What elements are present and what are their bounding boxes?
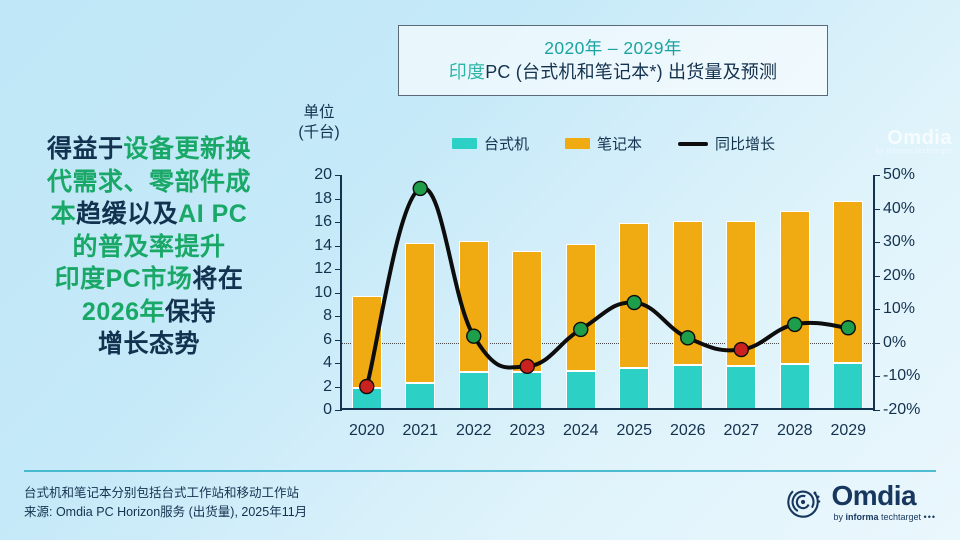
omdia-watermark: Omdia by informa techtarget <box>876 128 952 155</box>
y-axis-tick-label: 18 <box>314 190 332 208</box>
y-axis-tick-label: 20 <box>314 166 332 184</box>
y2-axis-tick-label: -20% <box>883 401 920 419</box>
growth-marker-positive[interactable] <box>681 331 695 345</box>
slide-canvas: 得益于设备更新换代需求、零部件成本趋缓以及AI PC的普及率提升印度PC市场将在… <box>0 0 960 540</box>
headline-line-5: 2026年保持 <box>8 296 290 329</box>
growth-marker-positive[interactable] <box>413 181 427 195</box>
omdia-tag-by: by <box>833 512 845 522</box>
legend-label: 同比增长 <box>715 133 775 154</box>
omdia-watermark-word: Omdia <box>887 127 952 149</box>
legend-desktop[interactable]: 台式机 <box>452 133 529 154</box>
y-axis-tick-label: 8 <box>323 307 332 325</box>
y-axis-tick-label: 2 <box>323 378 332 396</box>
footer-note: 台式机和笔记本分别包括台式工作站和移动工作站 <box>24 484 307 503</box>
growth-line-path <box>367 188 849 387</box>
y-axis-tick-label: 6 <box>323 331 332 349</box>
x-axis-label: 2021 <box>394 422 448 440</box>
y-axis-tick-label: 14 <box>314 237 332 255</box>
headline-span: 代需求、零部件成 <box>47 168 251 196</box>
headline-span: 增长态势 <box>98 330 200 358</box>
chart-plot-area: 2020202120222023202420252026202720282029 <box>340 175 875 410</box>
growth-marker-positive[interactable] <box>574 322 588 336</box>
headline-line-4: 印度PC市场将在 <box>8 263 290 296</box>
y-axis-unit-label: 单位 (千台) <box>288 103 350 143</box>
y2-axis-tick-label: 30% <box>883 233 915 251</box>
y-axis-tick-label: 4 <box>323 354 332 372</box>
y2-axis-tick-label: 50% <box>883 166 915 184</box>
chart-title-line2: 印度PC (台式机和笔记本*) 出货量及预测 <box>449 60 777 84</box>
growth-marker-positive[interactable] <box>467 329 481 343</box>
x-axis-label: 2025 <box>608 422 662 440</box>
legend-label: 笔记本 <box>597 133 642 154</box>
growth-marker-negative[interactable] <box>520 359 534 373</box>
y-axis-tick <box>335 410 342 411</box>
headline-span: 本 <box>51 200 77 228</box>
growth-marker-positive[interactable] <box>788 317 802 331</box>
headline-text: 得益于设备更新换代需求、零部件成本趋缓以及AI PC的普及率提升印度PC市场将在… <box>8 133 290 361</box>
x-axis-label: 2026 <box>661 422 715 440</box>
y2-axis-tick-label: 40% <box>883 200 915 218</box>
x-axis-label: 2023 <box>501 422 555 440</box>
headline-line-3: 的普及率提升 <box>8 231 290 264</box>
growth-line-overlay <box>340 175 875 410</box>
x-axis-label: 2024 <box>554 422 608 440</box>
chart-title-line2-prefix: 印度 <box>449 62 485 82</box>
y2-axis-tick-label: 20% <box>883 267 915 285</box>
y-axis-unit-line2: (千台) <box>288 123 350 143</box>
x-axis-label: 2029 <box>822 422 876 440</box>
legend-notebook[interactable]: 笔记本 <box>565 133 642 154</box>
chart-title-line2-rest: PC (台式机和笔记本*) 出货量及预测 <box>485 62 777 82</box>
y-axis-tick-label: 12 <box>314 260 332 278</box>
legend-label: 台式机 <box>484 133 529 154</box>
y2-axis-tick-label: 0% <box>883 334 906 352</box>
headline-line-1: 代需求、零部件成 <box>8 166 290 199</box>
growth-marker-positive[interactable] <box>841 321 855 335</box>
legend-growth[interactable]: 同比增长 <box>678 133 775 154</box>
footer-source: 来源: Omdia PC Horizon服务 (出货量), 2025年11月 <box>24 503 307 522</box>
omdia-logo-word: Omdia <box>831 482 936 510</box>
x-axis-label: 2027 <box>715 422 769 440</box>
omdia-logo-tagline: by informa techtarget ••• <box>833 513 936 522</box>
omdia-logo-text: Omdia by informa techtarget ••• <box>831 482 936 522</box>
headline-span: 得益于 <box>47 135 124 163</box>
x-axis-label: 2022 <box>447 422 501 440</box>
y-axis-tick-label: 16 <box>314 213 332 231</box>
headline-line-2: 本趋缓以及AI PC <box>8 198 290 231</box>
omdia-tag-informa: informa <box>845 512 878 522</box>
chart-title-box: 2020年 – 2029年 印度PC (台式机和笔记本*) 出货量及预测 <box>398 25 828 96</box>
omdia-watermark-tag: by informa techtarget <box>876 148 952 155</box>
y2-axis-tick <box>873 410 880 411</box>
headline-span: AI PC <box>178 200 247 228</box>
omdia-logo-mark-icon <box>785 483 823 521</box>
omdia-tag-rest: techtarget <box>879 512 922 522</box>
headline-span: 将在 <box>192 265 243 293</box>
x-axis-label: 2020 <box>340 422 394 440</box>
omdia-logo: Omdia by informa techtarget ••• <box>785 482 936 522</box>
legend-line-icon <box>678 142 708 146</box>
footer-divider <box>24 470 936 472</box>
legend-swatch-icon <box>452 138 477 149</box>
headline-span: 设备更新换 <box>124 135 252 163</box>
legend-swatch-icon <box>565 138 590 149</box>
headline-line-0: 得益于设备更新换 <box>8 133 290 166</box>
growth-marker-positive[interactable] <box>627 296 641 310</box>
chart-title-line1: 2020年 – 2029年 <box>544 37 682 61</box>
y-axis-tick-label: 10 <box>314 284 332 302</box>
y-axis-unit-line1: 单位 <box>288 103 350 123</box>
headline-span: 2026年 <box>82 298 165 326</box>
x-axis-label: 2028 <box>768 422 822 440</box>
headline-span: 趋缓以及 <box>76 200 178 228</box>
footer-text: 台式机和笔记本分别包括台式工作站和移动工作站 来源: Omdia PC Hori… <box>24 484 307 523</box>
growth-marker-negative[interactable] <box>360 380 374 394</box>
growth-marker-negative[interactable] <box>734 343 748 357</box>
y2-axis-tick-label: 10% <box>883 300 915 318</box>
chart-legend: 台式机笔记本同比增长 <box>452 133 775 154</box>
y-axis-tick-label: 0 <box>323 401 332 419</box>
y2-axis-tick-label: -10% <box>883 367 920 385</box>
headline-span: 印度PC市场 <box>55 265 193 293</box>
headline-span: 的普及率提升 <box>72 233 225 261</box>
omdia-tag-dots: ••• <box>924 512 936 522</box>
headline-line-6: 增长态势 <box>8 328 290 361</box>
headline-span: 保持 <box>165 298 216 326</box>
